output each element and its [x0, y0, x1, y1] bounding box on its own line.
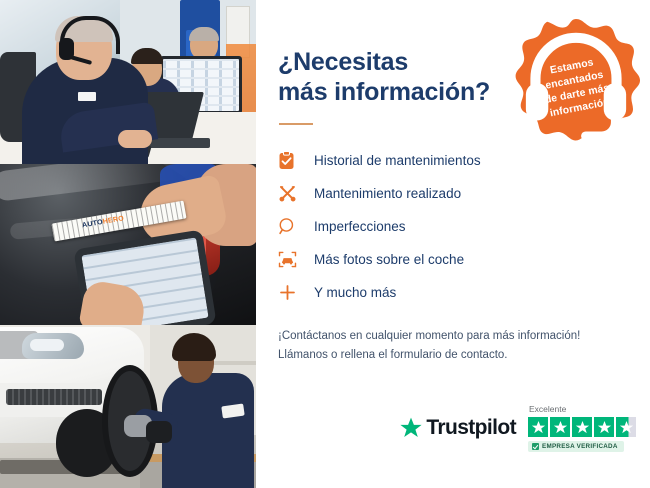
mechanic-glove-2: [146, 421, 172, 443]
agent-name-badge: [78, 92, 96, 101]
car-lower-grille: [6, 389, 102, 405]
star-rating: [528, 417, 636, 437]
rating-label: Excelente: [529, 404, 636, 414]
trustpilot-widget[interactable]: Trustpilot Excelente EMPRESA VERIFICADA: [399, 404, 636, 452]
car-headlight: [22, 333, 84, 359]
feature-item-maintenance-done: Mantenimiento realizado: [278, 177, 622, 210]
person-back-hair: [189, 27, 219, 41]
verified-company-badge: EMPRESA VERIFICADA: [528, 441, 624, 452]
feature-item-much-more: Y mucho más: [278, 276, 622, 309]
magnifier-icon: [278, 217, 306, 236]
feature-item-maintenance-history: Historial de mantenimientos: [278, 144, 622, 177]
star-1: [528, 417, 548, 437]
feature-item-imperfections: Imperfecciones: [278, 210, 622, 243]
star-4: [594, 417, 614, 437]
title-divider: [279, 123, 313, 125]
feature-item-more-photos: Más fotos sobre el coche: [278, 243, 622, 276]
verified-check-icon: [532, 443, 539, 450]
star-5-partial: [616, 417, 636, 437]
contact-line-2: Llámanos o rellena el formulario de cont…: [278, 346, 622, 365]
star-2: [550, 417, 570, 437]
feature-label: Imperfecciones: [314, 219, 406, 234]
agent-hand: [118, 130, 152, 148]
verified-label: EMPRESA VERIFICADA: [542, 443, 618, 450]
star-3: [572, 417, 592, 437]
feature-label: Y mucho más: [314, 285, 396, 300]
info-banner: AUTOHERO: [0, 0, 650, 488]
promo-badge: Estamos encantados de darte más informac…: [512, 16, 640, 144]
contact-text: ¡Contáctanos en cualquier momento para m…: [278, 327, 622, 364]
car-scan-icon: [278, 250, 306, 269]
feature-label: Mantenimiento realizado: [314, 186, 461, 201]
trustpilot-star-icon: [399, 416, 423, 440]
tools-cross-icon: [278, 184, 306, 203]
trustpilot-rating: Excelente EMPRESA VERIFICADA: [528, 404, 636, 452]
photo-call-center: [0, 0, 256, 164]
plus-icon: [278, 283, 306, 302]
contact-line-1: ¡Contáctanos en cualquier momento para m…: [278, 327, 622, 346]
photo-column: AUTOHERO: [0, 0, 256, 488]
photo-inspection: AUTOHERO: [0, 164, 256, 325]
trustpilot-logo[interactable]: Trustpilot: [399, 416, 516, 440]
feature-list: Historial de mantenimientos M: [278, 144, 622, 309]
trustpilot-wordmark: Trustpilot: [426, 416, 516, 440]
photo-workshop: [0, 325, 256, 488]
feature-label: Más fotos sobre el coche: [314, 252, 464, 267]
content-panel: ¿Necesitas más información? Historial de…: [256, 0, 650, 488]
feature-label: Historial de mantenimientos: [314, 153, 481, 168]
workshop-shelf: [208, 361, 256, 365]
clipboard-check-icon: [278, 151, 306, 170]
